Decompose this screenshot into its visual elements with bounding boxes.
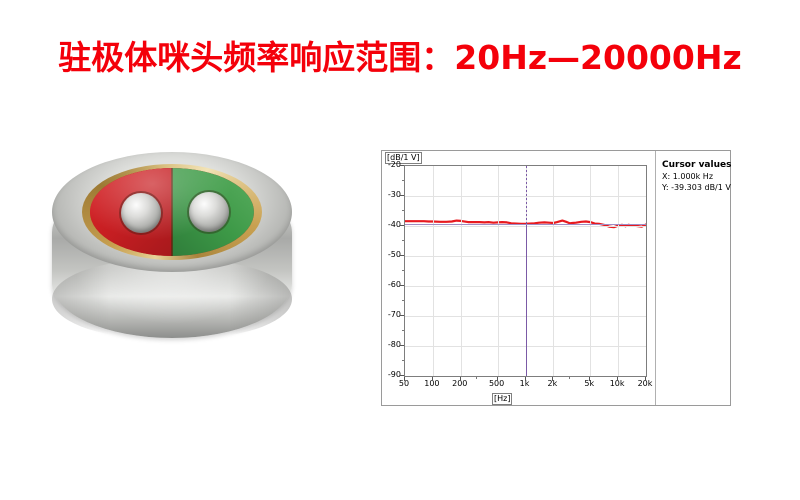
mic-face-gloss	[90, 168, 254, 256]
y-axis-tick	[400, 315, 404, 316]
x-axis-unit-label: [Hz]	[492, 393, 512, 405]
y-axis-tick	[400, 165, 404, 166]
x-axis-tick	[645, 377, 646, 381]
y-axis-minor-tick	[402, 300, 404, 301]
plot-area	[404, 165, 647, 377]
y-axis-minor-tick	[402, 360, 404, 361]
y-axis-tick	[400, 345, 404, 346]
cursor-x-value: X: 1.000k Hz	[662, 171, 728, 182]
x-axis-tick	[552, 377, 553, 381]
mic-diaphragm-face	[90, 168, 254, 256]
y-axis-tick	[400, 225, 404, 226]
mic-capsule	[26, 140, 318, 368]
cursor-y-value: Y: -39.303 dB/1 V	[662, 182, 728, 193]
x-axis-minor-tick	[569, 377, 570, 379]
y-axis-tick-label: -90	[383, 371, 401, 379]
y-cursor-line[interactable]	[405, 224, 646, 225]
gridline-vertical	[590, 166, 591, 376]
y-axis-minor-tick	[402, 210, 404, 211]
y-axis-tick-label: -80	[383, 341, 401, 349]
x-axis-tick	[404, 377, 405, 381]
gridline-vertical	[553, 166, 554, 376]
y-axis-tick	[400, 195, 404, 196]
gridline-vertical	[461, 166, 462, 376]
cursor-values-panel: Cursor values X: 1.000k Hz Y: -39.303 dB…	[662, 159, 728, 193]
x-cursor-line-lower[interactable]	[526, 224, 527, 377]
x-axis-tick-label: 100	[418, 380, 446, 388]
mic-solder-pad-right	[189, 192, 229, 232]
x-axis-tick-label: 500	[483, 380, 511, 388]
y-axis-tick	[400, 375, 404, 376]
y-axis-tick-label: -70	[383, 311, 401, 319]
x-axis-tick	[432, 377, 433, 381]
y-axis-tick-label: -20	[383, 161, 401, 169]
electret-microphone-photo	[26, 140, 318, 368]
x-axis-tick	[525, 377, 526, 381]
x-axis-tick-label: 50	[390, 380, 418, 388]
y-axis-minor-tick	[402, 240, 404, 241]
x-axis-tick-label: 1k	[511, 380, 539, 388]
y-axis-tick	[400, 255, 404, 256]
cursor-values-title: Cursor values	[662, 159, 728, 171]
y-axis-minor-tick	[402, 330, 404, 331]
x-axis-minor-tick	[476, 377, 477, 379]
gridline-horizontal	[405, 376, 646, 377]
x-axis-tick-label: 20k	[631, 380, 659, 388]
y-axis-tick-label: -30	[383, 191, 401, 199]
x-axis-tick-label: 2k	[538, 380, 566, 388]
x-axis-tick	[589, 377, 590, 381]
y-axis-tick-label: -60	[383, 281, 401, 289]
y-axis-tick-label: -40	[383, 221, 401, 229]
x-axis-tick-label: 10k	[603, 380, 631, 388]
x-axis-tick-label: 200	[446, 380, 474, 388]
frequency-response-chart-panel: [dB/1 V] [Hz] Cursor values X: 1.000k Hz…	[381, 150, 731, 406]
x-axis-tick	[497, 377, 498, 381]
gridline-vertical	[498, 166, 499, 376]
page-title: 驻极体咪头频率响应范围：20Hz—20000Hz	[0, 36, 800, 80]
y-axis-tick-label: -50	[383, 251, 401, 259]
y-axis-minor-tick	[402, 180, 404, 181]
y-axis-minor-tick	[402, 270, 404, 271]
chart-panel-divider	[655, 151, 656, 405]
gridline-vertical	[433, 166, 434, 376]
mic-solder-pad-left	[121, 193, 161, 233]
x-cursor-line[interactable]	[526, 166, 527, 224]
gridline-vertical	[618, 166, 619, 376]
y-axis-tick	[400, 285, 404, 286]
x-axis-tick	[460, 377, 461, 381]
x-axis-tick-label: 5k	[575, 380, 603, 388]
x-axis-tick	[617, 377, 618, 381]
